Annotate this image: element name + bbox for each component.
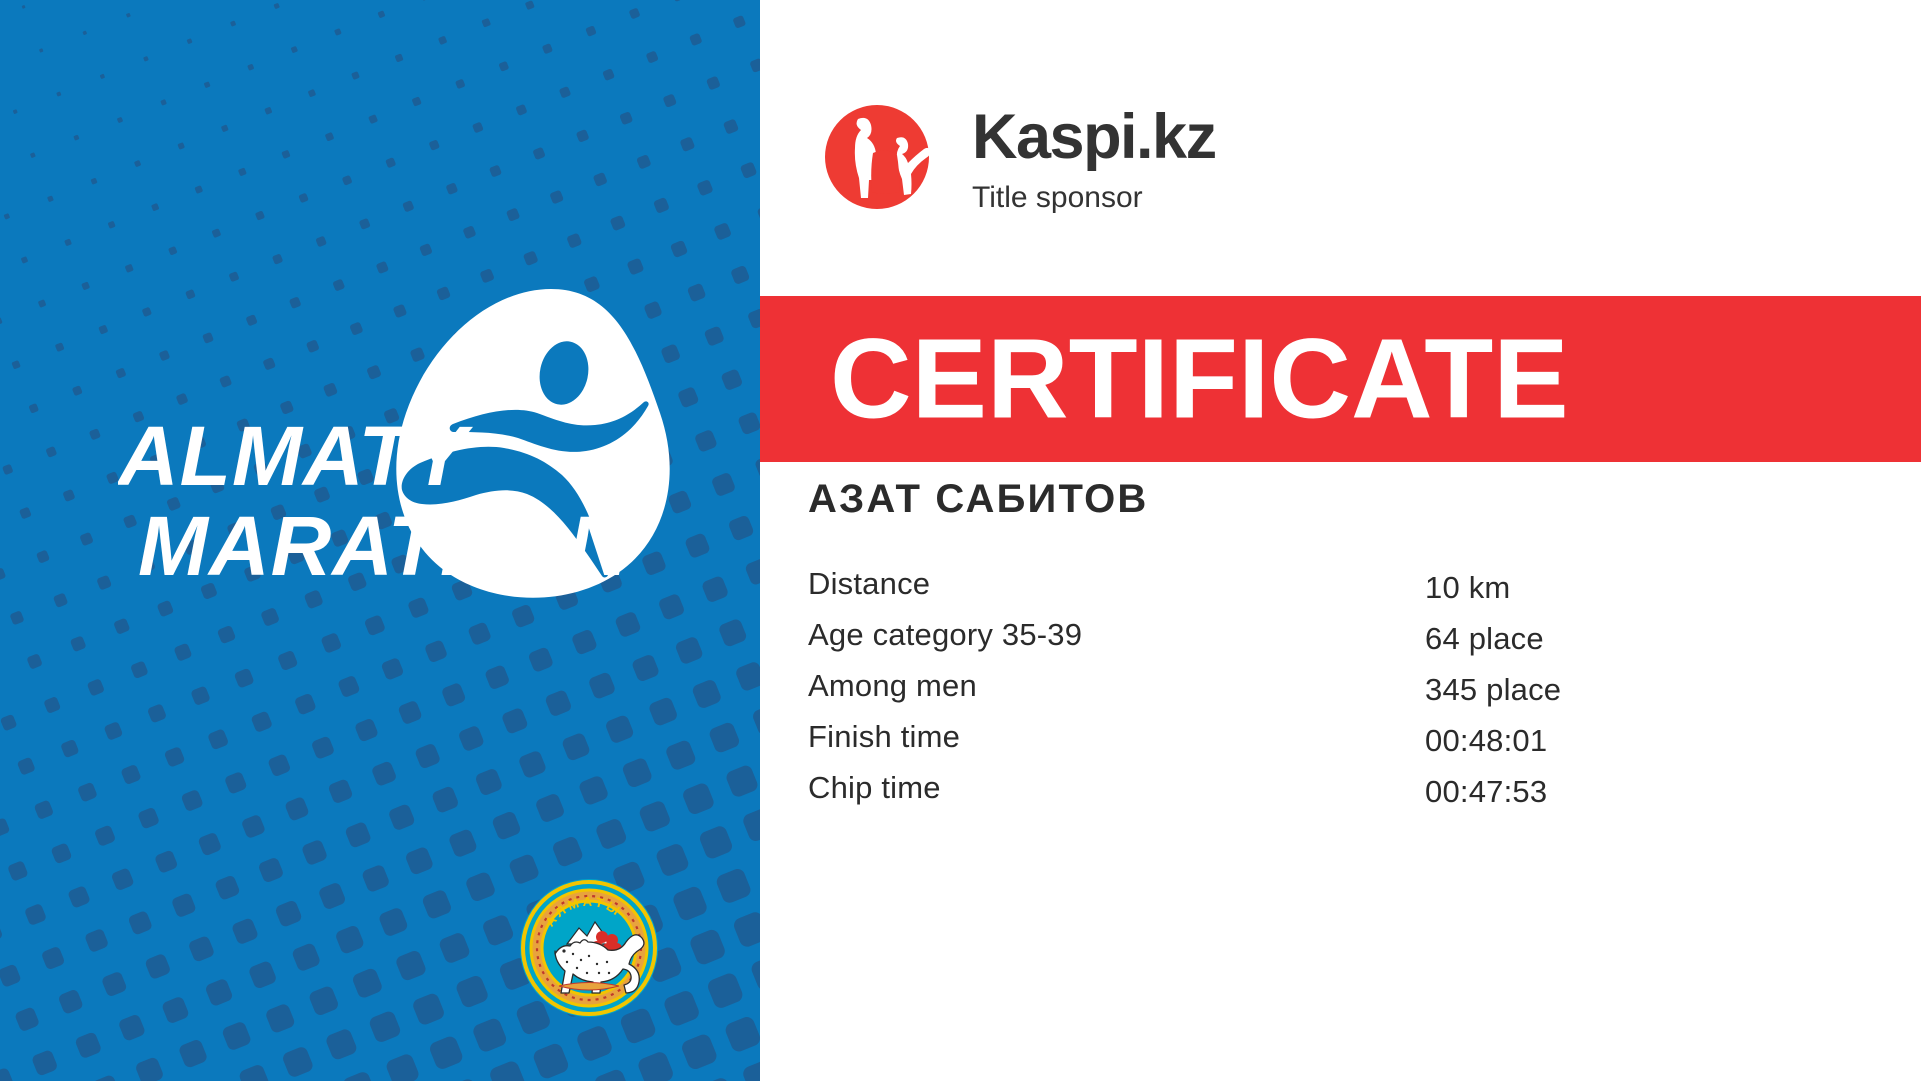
- table-row: Distance 10 km: [808, 568, 1818, 619]
- sponsor-text-block: Kaspi.kz Title sponsor: [972, 98, 1216, 213]
- result-label: Chip time: [808, 772, 941, 803]
- result-value: 00:47:53: [1425, 776, 1547, 807]
- kaspi-logo-icon: [818, 101, 936, 219]
- table-row: Chip time 00:47:53: [808, 772, 1818, 823]
- brand-panel: ALMATY MARATHON АЛМАТЫ: [0, 0, 760, 1081]
- title-sponsor-block: Kaspi.kz Title sponsor: [818, 98, 1216, 219]
- result-label: Finish time: [808, 721, 960, 752]
- result-value: 10 km: [1425, 572, 1510, 603]
- certificate: ALMATY MARATHON АЛМАТЫ: [0, 0, 1921, 1081]
- table-row: Age category 35-39 64 place: [808, 619, 1818, 670]
- almaty-city-emblem: АЛМАТЫ: [519, 878, 659, 1018]
- brand-logo-line1: ALMATY: [118, 409, 474, 503]
- result-value: 64 place: [1425, 623, 1544, 654]
- results-table: Distance 10 km Age category 35-39 64 pla…: [808, 568, 1818, 823]
- result-label: Among men: [808, 670, 977, 701]
- certificate-banner: CERTIFICATE: [760, 296, 1921, 462]
- table-row: Among men 345 place: [808, 670, 1818, 721]
- athlete-name: АЗАТ САБИТОВ: [808, 479, 1149, 519]
- result-value: 345 place: [1425, 674, 1561, 705]
- certificate-title: CERTIFICATE: [830, 323, 1569, 436]
- almaty-city-coat-of-arms-icon: АЛМАТЫ: [520, 879, 658, 1017]
- brand-logo-line2: MARATHON: [138, 499, 631, 593]
- sponsor-name: Kaspi.kz: [972, 106, 1216, 169]
- sponsor-role: Title sponsor: [972, 183, 1216, 213]
- content-panel: Kaspi.kz Title sponsor CERTIFICATE АЗАТ …: [760, 0, 1921, 1081]
- result-label: Age category 35-39: [808, 619, 1082, 650]
- table-row: Finish time 00:48:01: [808, 721, 1818, 772]
- almaty-marathon-logo: ALMATY MARATHON: [118, 285, 703, 605]
- result-value: 00:48:01: [1425, 725, 1547, 756]
- result-label: Distance: [808, 568, 930, 599]
